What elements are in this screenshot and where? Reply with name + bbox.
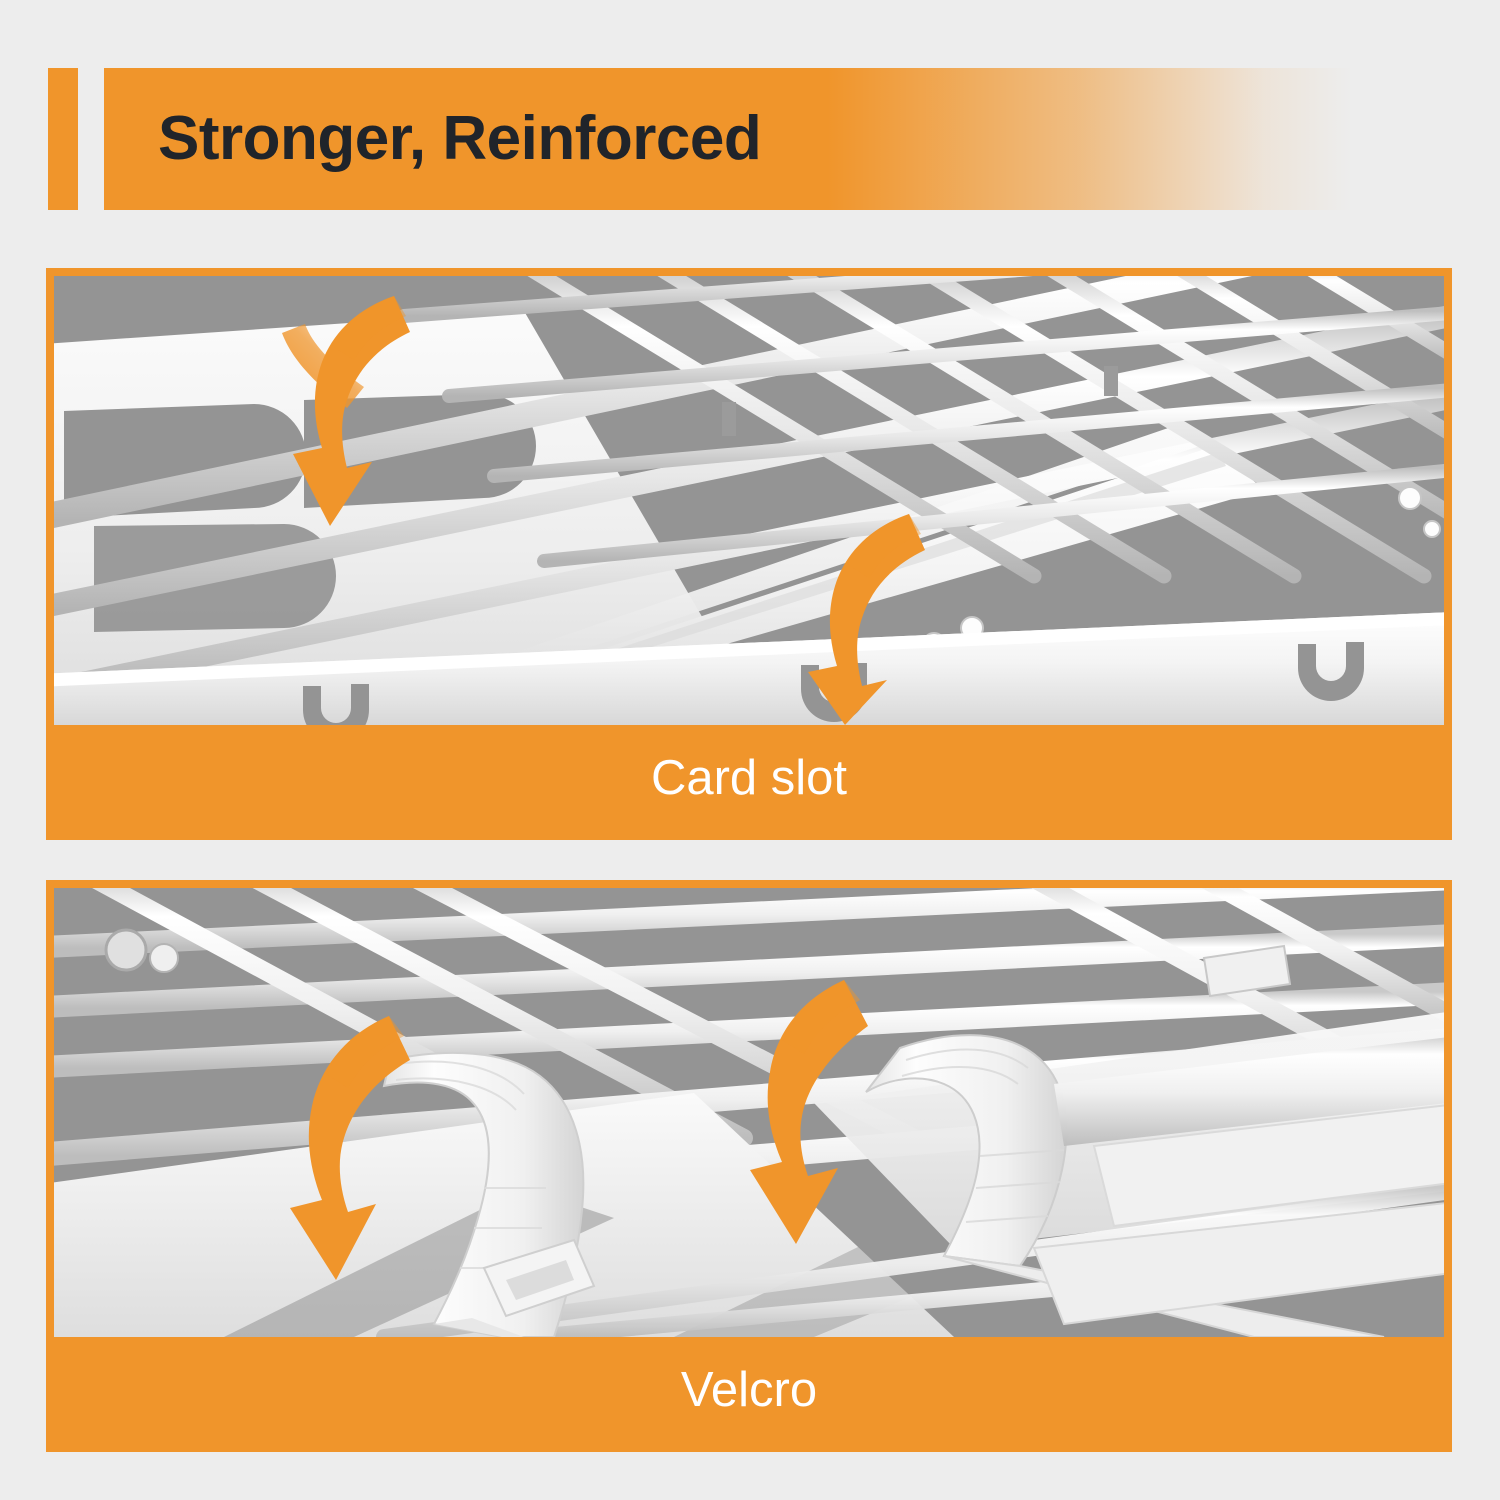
- feature-panel-card-slot: Card slot: [46, 268, 1452, 840]
- velcro-caption-bar: Velcro: [54, 1337, 1444, 1444]
- page-title: Stronger, Reinforced: [158, 108, 761, 170]
- header-banner: Stronger, Reinforced: [104, 68, 1352, 210]
- velcro-image: [54, 888, 1444, 1337]
- card-slot-caption-bar: Card slot: [54, 725, 1444, 832]
- card-slot-caption-text: Card slot: [651, 754, 847, 803]
- velcro-illustration: [54, 888, 1444, 1337]
- infographic-page: Stronger, Reinforced: [0, 0, 1500, 1500]
- header-accent-bar: [48, 68, 78, 210]
- velcro-caption-text: Velcro: [681, 1366, 817, 1415]
- card-slot-illustration: [54, 276, 1444, 725]
- header: Stronger, Reinforced: [0, 68, 1500, 210]
- feature-panel-velcro: Velcro: [46, 880, 1452, 1452]
- card-slot-image: [54, 276, 1444, 725]
